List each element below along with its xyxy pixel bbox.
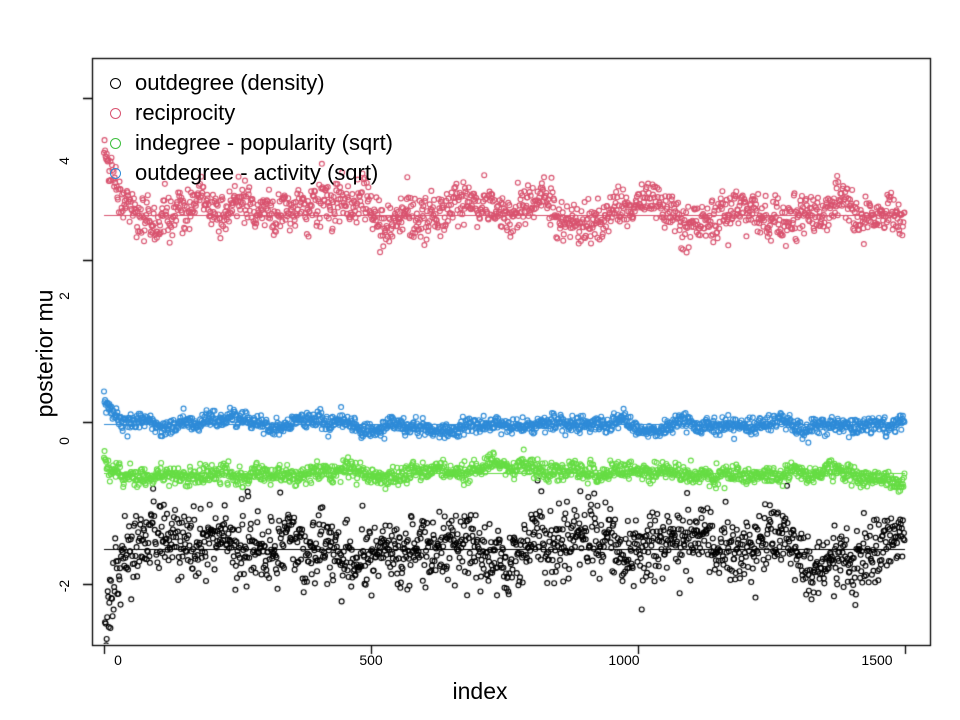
legend-circle-icon-1	[104, 102, 126, 124]
y-tick-label-2: 2	[56, 276, 72, 316]
x-tick-label-500: 500	[341, 652, 401, 668]
x-axis-title: index	[0, 678, 960, 705]
x-tick-label-1500: 1500	[847, 652, 907, 668]
legend-item-indegree-popularity: indegree - popularity (sqrt)	[104, 128, 393, 158]
y-tick-label-0: 0	[56, 421, 72, 461]
y-axis-title: posterior mu	[32, 204, 59, 504]
legend-label-1: reciprocity	[135, 100, 235, 126]
x-tick-label-0: 0	[88, 652, 148, 668]
legend-label-2: indegree - popularity (sqrt)	[135, 130, 393, 156]
legend-circle-icon-3	[104, 162, 126, 184]
legend: outdegree (density) reciprocity indegree…	[104, 68, 393, 188]
legend-label-3: outdegree - activity (sqrt)	[135, 160, 378, 186]
legend-item-outdegree-density: outdegree (density)	[104, 68, 393, 98]
y-tick-label-neg2: -2	[56, 566, 72, 606]
legend-label-0: outdegree (density)	[135, 70, 325, 96]
legend-circle-icon-0	[104, 72, 126, 94]
legend-item-outdegree-activity: outdegree - activity (sqrt)	[104, 158, 393, 188]
legend-item-reciprocity: reciprocity	[104, 98, 393, 128]
y-tick-label-4: 4	[56, 141, 72, 181]
trace-plot-figure: posterior mu index 0 500 1000 1500 4 2 0…	[0, 0, 960, 720]
x-tick-label-1000: 1000	[594, 652, 654, 668]
legend-circle-icon-2	[104, 132, 126, 154]
